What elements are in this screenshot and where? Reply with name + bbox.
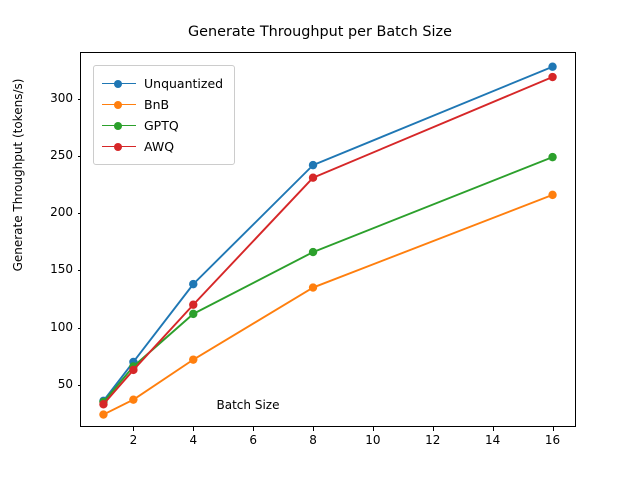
legend-swatch-icon bbox=[102, 141, 136, 153]
chart-legend: UnquantizedBnBGPTQAWQ bbox=[93, 65, 235, 165]
x-tick-mark bbox=[313, 427, 314, 431]
series-bnb bbox=[99, 191, 557, 419]
chart-title: Generate Throughput per Batch Size bbox=[0, 24, 640, 40]
x-tick-mark bbox=[553, 427, 554, 431]
data-point-marker bbox=[309, 283, 317, 291]
data-point-marker bbox=[129, 366, 137, 374]
x-axis-label: Batch Size bbox=[0, 398, 496, 412]
x-tick-mark bbox=[133, 427, 134, 431]
y-tick-mark bbox=[78, 213, 82, 214]
x-tick-label: 6 bbox=[233, 433, 273, 447]
x-tick-label: 10 bbox=[353, 433, 393, 447]
y-tick-label: 250 bbox=[23, 148, 73, 162]
x-tick-label: 14 bbox=[473, 433, 513, 447]
x-tick-mark bbox=[493, 427, 494, 431]
x-tick-mark bbox=[433, 427, 434, 431]
data-point-marker bbox=[309, 174, 317, 182]
legend-label: AWQ bbox=[144, 139, 174, 154]
x-tick-label: 12 bbox=[413, 433, 453, 447]
x-tick-label: 2 bbox=[113, 433, 153, 447]
series-line bbox=[103, 195, 552, 415]
data-point-marker bbox=[189, 301, 197, 309]
y-tick-label: 150 bbox=[23, 262, 73, 276]
data-point-marker bbox=[309, 248, 317, 256]
legend-item-gptq: GPTQ bbox=[102, 115, 223, 136]
x-tick-mark bbox=[193, 427, 194, 431]
x-tick-label: 4 bbox=[173, 433, 213, 447]
data-point-marker bbox=[548, 63, 556, 71]
data-point-marker bbox=[548, 191, 556, 199]
legend-label: GPTQ bbox=[144, 118, 179, 133]
data-point-marker bbox=[548, 153, 556, 161]
y-tick-label: 100 bbox=[23, 320, 73, 334]
data-point-marker bbox=[189, 355, 197, 363]
legend-item-awq: AWQ bbox=[102, 136, 223, 157]
y-tick-label: 50 bbox=[23, 377, 73, 391]
data-point-marker bbox=[189, 310, 197, 318]
legend-swatch-icon bbox=[102, 120, 136, 132]
x-tick-mark bbox=[373, 427, 374, 431]
y-tick-mark bbox=[78, 99, 82, 100]
series-gptq bbox=[99, 153, 557, 406]
legend-swatch-icon bbox=[102, 78, 136, 90]
y-tick-mark bbox=[78, 156, 82, 157]
y-axis-label: Generate Throughput (tokens/s) bbox=[11, 0, 25, 375]
data-point-marker bbox=[548, 73, 556, 81]
x-tick-label: 16 bbox=[533, 433, 573, 447]
y-tick-label: 200 bbox=[23, 205, 73, 219]
plot-area: UnquantizedBnBGPTQAWQ 246810121416501001… bbox=[80, 52, 576, 427]
y-tick-label: 300 bbox=[23, 91, 73, 105]
legend-label: Unquantized bbox=[144, 76, 223, 91]
y-tick-mark bbox=[78, 270, 82, 271]
y-tick-mark bbox=[78, 385, 82, 386]
data-point-marker bbox=[309, 161, 317, 169]
y-tick-mark bbox=[78, 328, 82, 329]
series-line bbox=[103, 157, 552, 402]
legend-item-bnb: BnB bbox=[102, 94, 223, 115]
chart-figure: Generate Throughput per Batch Size Unqua… bbox=[0, 0, 640, 480]
x-tick-label: 8 bbox=[293, 433, 333, 447]
legend-label: BnB bbox=[144, 97, 169, 112]
x-tick-mark bbox=[253, 427, 254, 431]
data-point-marker bbox=[189, 280, 197, 288]
legend-swatch-icon bbox=[102, 99, 136, 111]
legend-item-unquantized: Unquantized bbox=[102, 73, 223, 94]
